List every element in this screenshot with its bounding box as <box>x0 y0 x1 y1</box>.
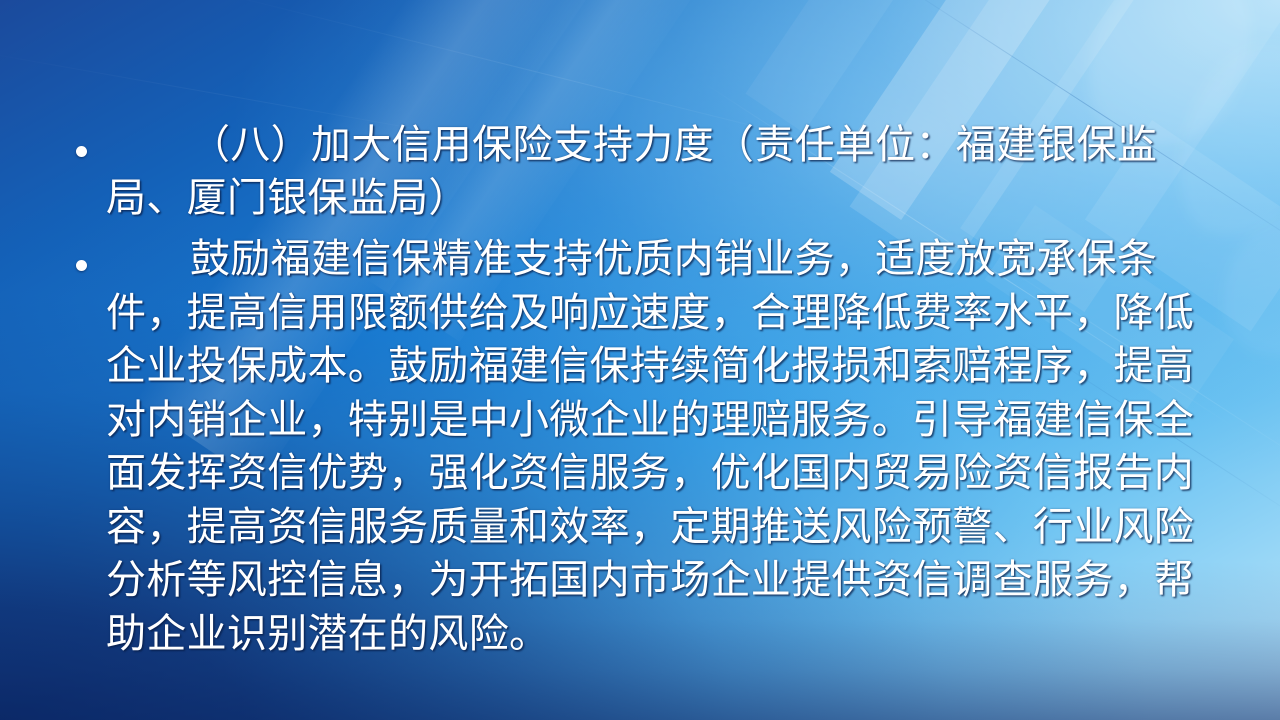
bullet-paragraph-1: （八）加大信用保险支持力度（责任单位：福建银保监局、厦门银保监局） <box>106 118 1230 224</box>
bullet-paragraph-2: 鼓励福建信保精准支持优质内销业务，适度放宽承保条件，提高信用限额供给及响应速度，… <box>106 232 1230 660</box>
bullet-list: （八）加大信用保险支持力度（责任单位：福建银保监局、厦门银保监局） 鼓励福建信保… <box>60 118 1230 668</box>
list-item: 鼓励福建信保精准支持优质内销业务，适度放宽承保条件，提高信用限额供给及响应速度，… <box>60 232 1230 660</box>
presentation-slide: （八）加大信用保险支持力度（责任单位：福建银保监局、厦门银保监局） 鼓励福建信保… <box>0 0 1280 720</box>
list-item: （八）加大信用保险支持力度（责任单位：福建银保监局、厦门银保监局） <box>60 118 1230 224</box>
bullet-dot-icon <box>76 146 87 157</box>
bullet-dot-icon <box>76 260 87 271</box>
slide-content-area: （八）加大信用保险支持力度（责任单位：福建银保监局、厦门银保监局） 鼓励福建信保… <box>0 0 1280 720</box>
